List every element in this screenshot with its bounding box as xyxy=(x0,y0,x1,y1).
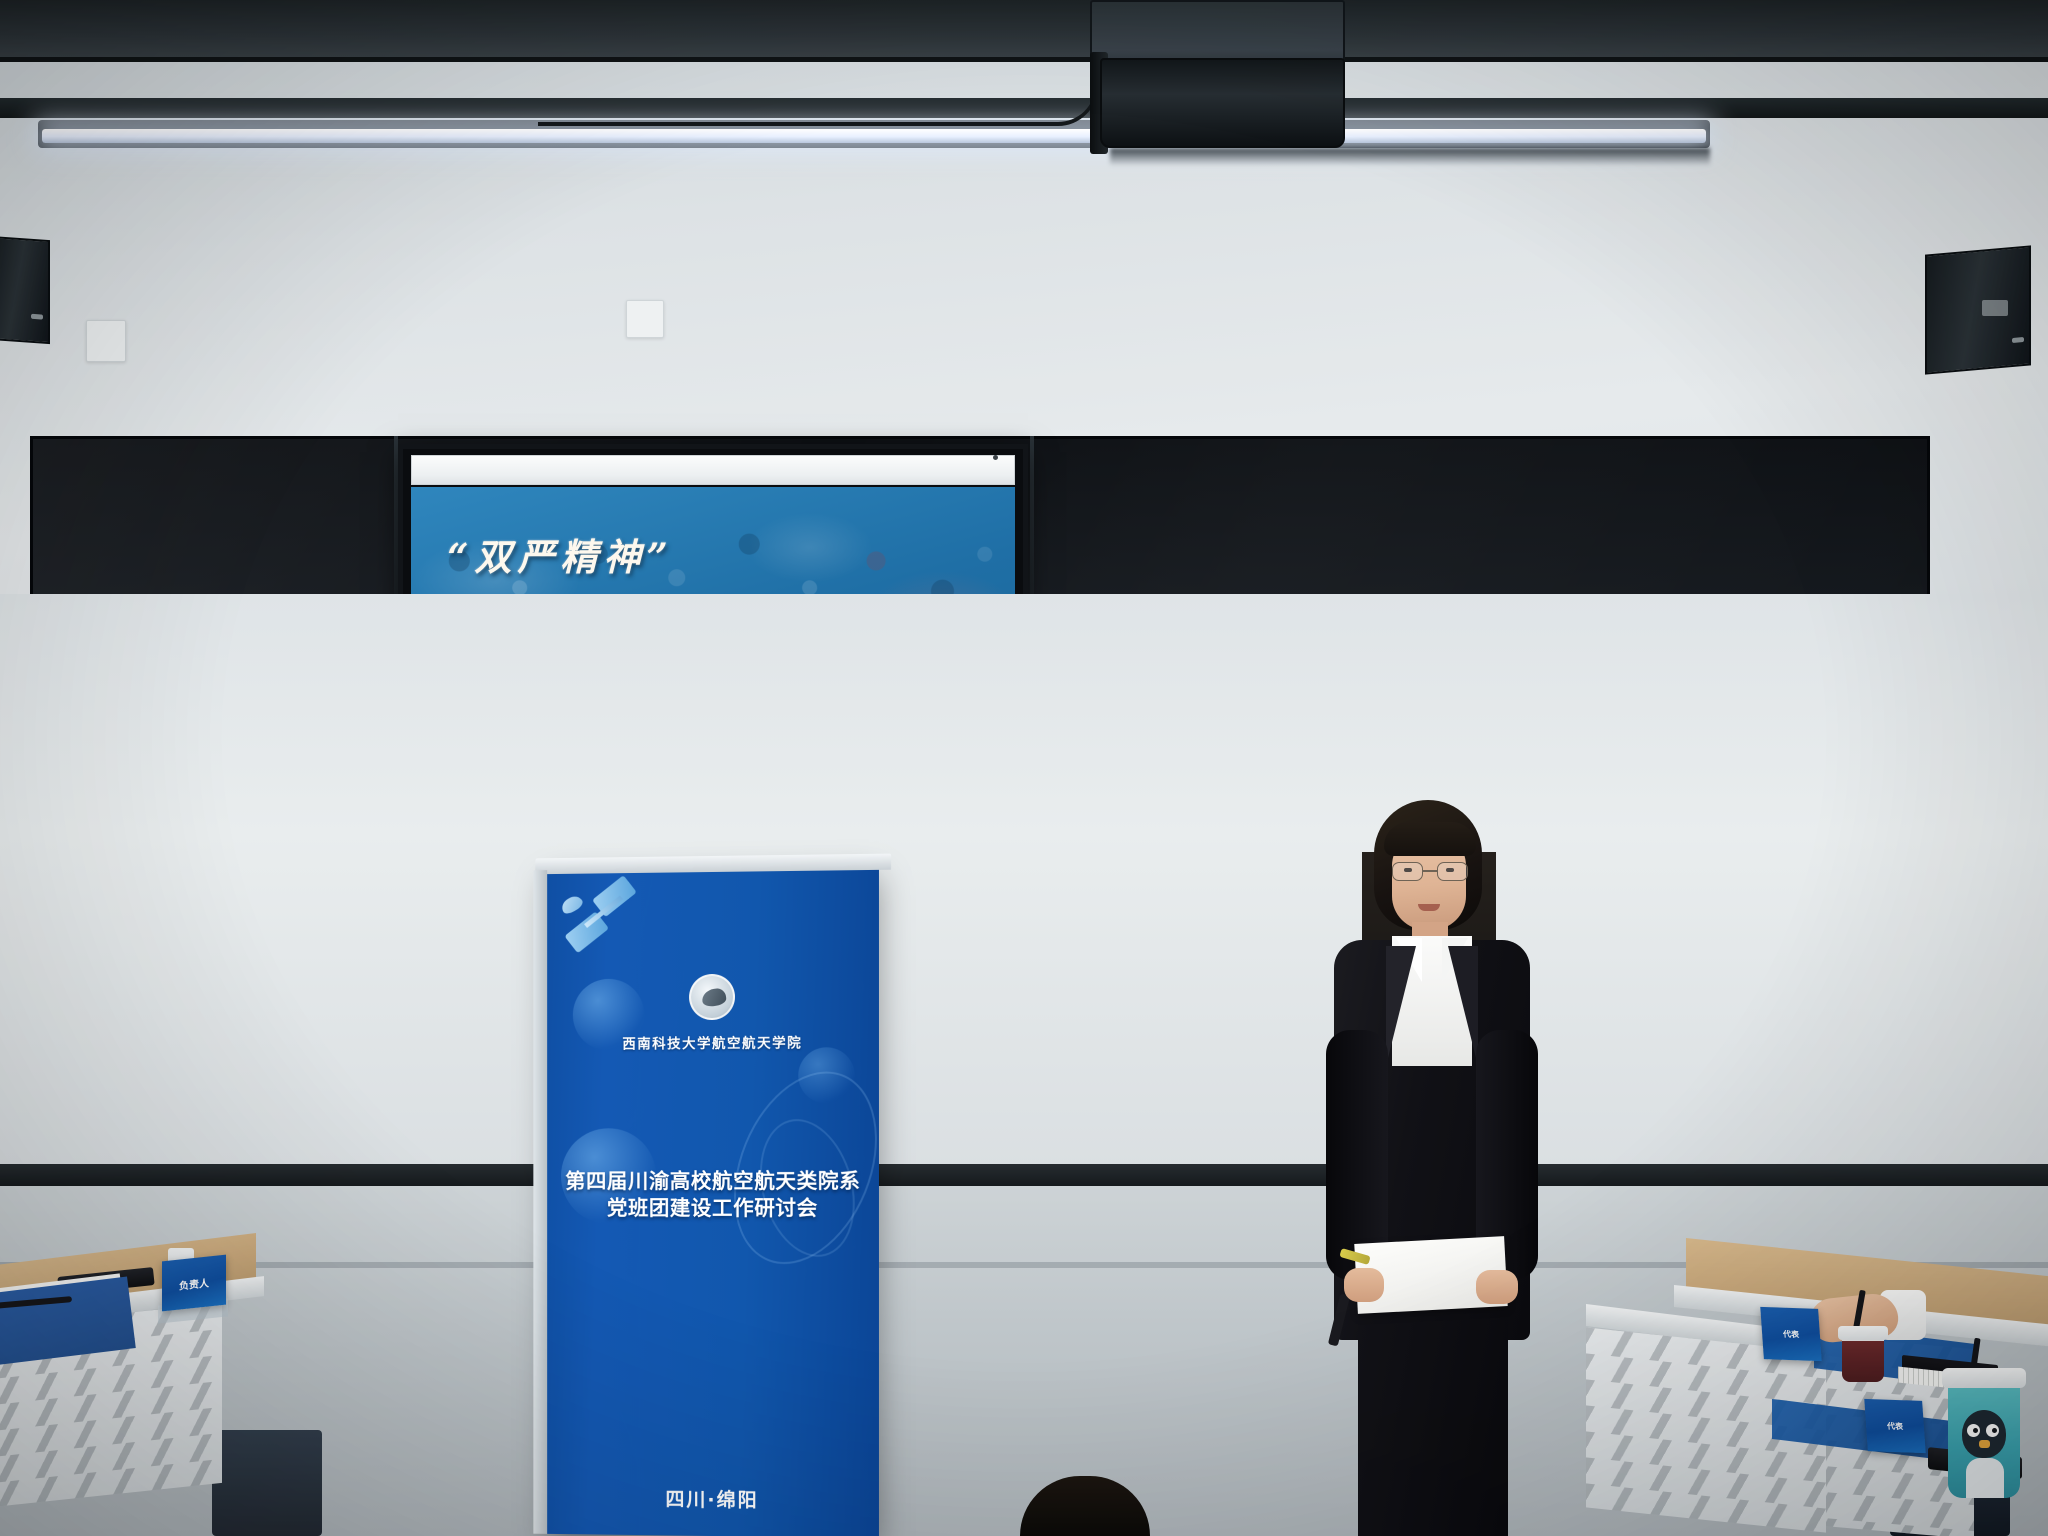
slide-title-line1: “双严精神” xyxy=(447,527,674,581)
eyeglass-lens-left xyxy=(1392,862,1423,881)
lower-wall xyxy=(0,594,2048,1194)
wall-speaker-right xyxy=(1925,245,2031,374)
presenter-fringe xyxy=(1384,822,1476,856)
podium-left-edge xyxy=(533,870,547,1534)
milk-tea-cup xyxy=(1948,1380,2020,1498)
satellite-solar-panel xyxy=(564,911,609,953)
podium-location: 四川·绵阳 xyxy=(547,1483,879,1514)
satellite-icon xyxy=(561,879,656,966)
classroom-scene: 西南交大 “交大+公益”志愿服务学实践队 xyxy=(0,0,2048,1536)
standing-presenter xyxy=(1300,800,1570,1536)
speaker-bracket xyxy=(1982,300,2008,316)
speaker-indicator xyxy=(31,314,43,320)
light-tube xyxy=(42,129,1706,143)
eyeglass-bridge xyxy=(1423,870,1437,872)
name-tent-right-back-label: 代表 xyxy=(1760,1307,1821,1361)
projector-cable xyxy=(538,86,1098,126)
presenter-hand-right xyxy=(1476,1270,1518,1304)
light-bar-shadow xyxy=(1110,148,1710,166)
podium-event-title: 第四届川渝高校航空航天类院系党班团建设工作研讨会 xyxy=(559,1168,867,1223)
projector-housing xyxy=(1100,58,1345,148)
speaker-indicator xyxy=(2012,337,2024,343)
event-podium: 西南科技大学航空航天学院 第四届川渝高校航空航天类院系党班团建设工作研讨会 四川… xyxy=(547,866,879,1536)
name-tent-left: 负责人 xyxy=(162,1255,226,1312)
eyeglasses-icon xyxy=(1392,862,1468,882)
presenter-trousers xyxy=(1358,1320,1508,1536)
cartoon-penguin-icon xyxy=(1962,1410,2006,1458)
eyeglass-lens-right xyxy=(1437,862,1468,881)
cartoon-pupil-right xyxy=(1992,1428,1997,1433)
name-tent-right-front: 代表 xyxy=(1864,1399,1925,1453)
presenter-mouth xyxy=(1418,904,1440,911)
panel-top-bezel xyxy=(411,455,1015,485)
wall-switch-plate-center[interactable] xyxy=(626,300,664,338)
cartoon-beak xyxy=(1979,1440,1990,1448)
wall-skirting xyxy=(0,1164,2048,1188)
podium-school-name: 西南科技大学航空航天学院 xyxy=(547,1031,879,1053)
jacket-lapel-left xyxy=(1386,946,1416,1066)
milk-tea-cup-lid xyxy=(1942,1368,2026,1388)
university-emblem-icon xyxy=(689,974,735,1020)
name-tent-right-front-label: 代表 xyxy=(1864,1399,1925,1453)
wall-speaker-left xyxy=(0,236,50,344)
satellite-dish xyxy=(559,893,585,916)
camera-icon xyxy=(993,455,998,460)
name-tent-left-label: 负责人 xyxy=(162,1255,226,1312)
name-tent-right-back: 代表 xyxy=(1760,1307,1821,1361)
iced-drink-cup xyxy=(1842,1334,1884,1382)
cartoon-body xyxy=(1966,1458,2004,1498)
panel-top-bezel-inner xyxy=(412,456,1014,484)
podium-top-surface xyxy=(535,854,891,875)
jacket-lapel-right xyxy=(1448,946,1478,1066)
ceiling-band xyxy=(0,0,2048,62)
iced-drink-cup-lid xyxy=(1838,1326,1888,1340)
presenter-hand-left xyxy=(1344,1268,1384,1302)
cartoon-pupil-left xyxy=(1973,1428,1978,1433)
wall-switch-plate-left[interactable] xyxy=(86,320,126,362)
